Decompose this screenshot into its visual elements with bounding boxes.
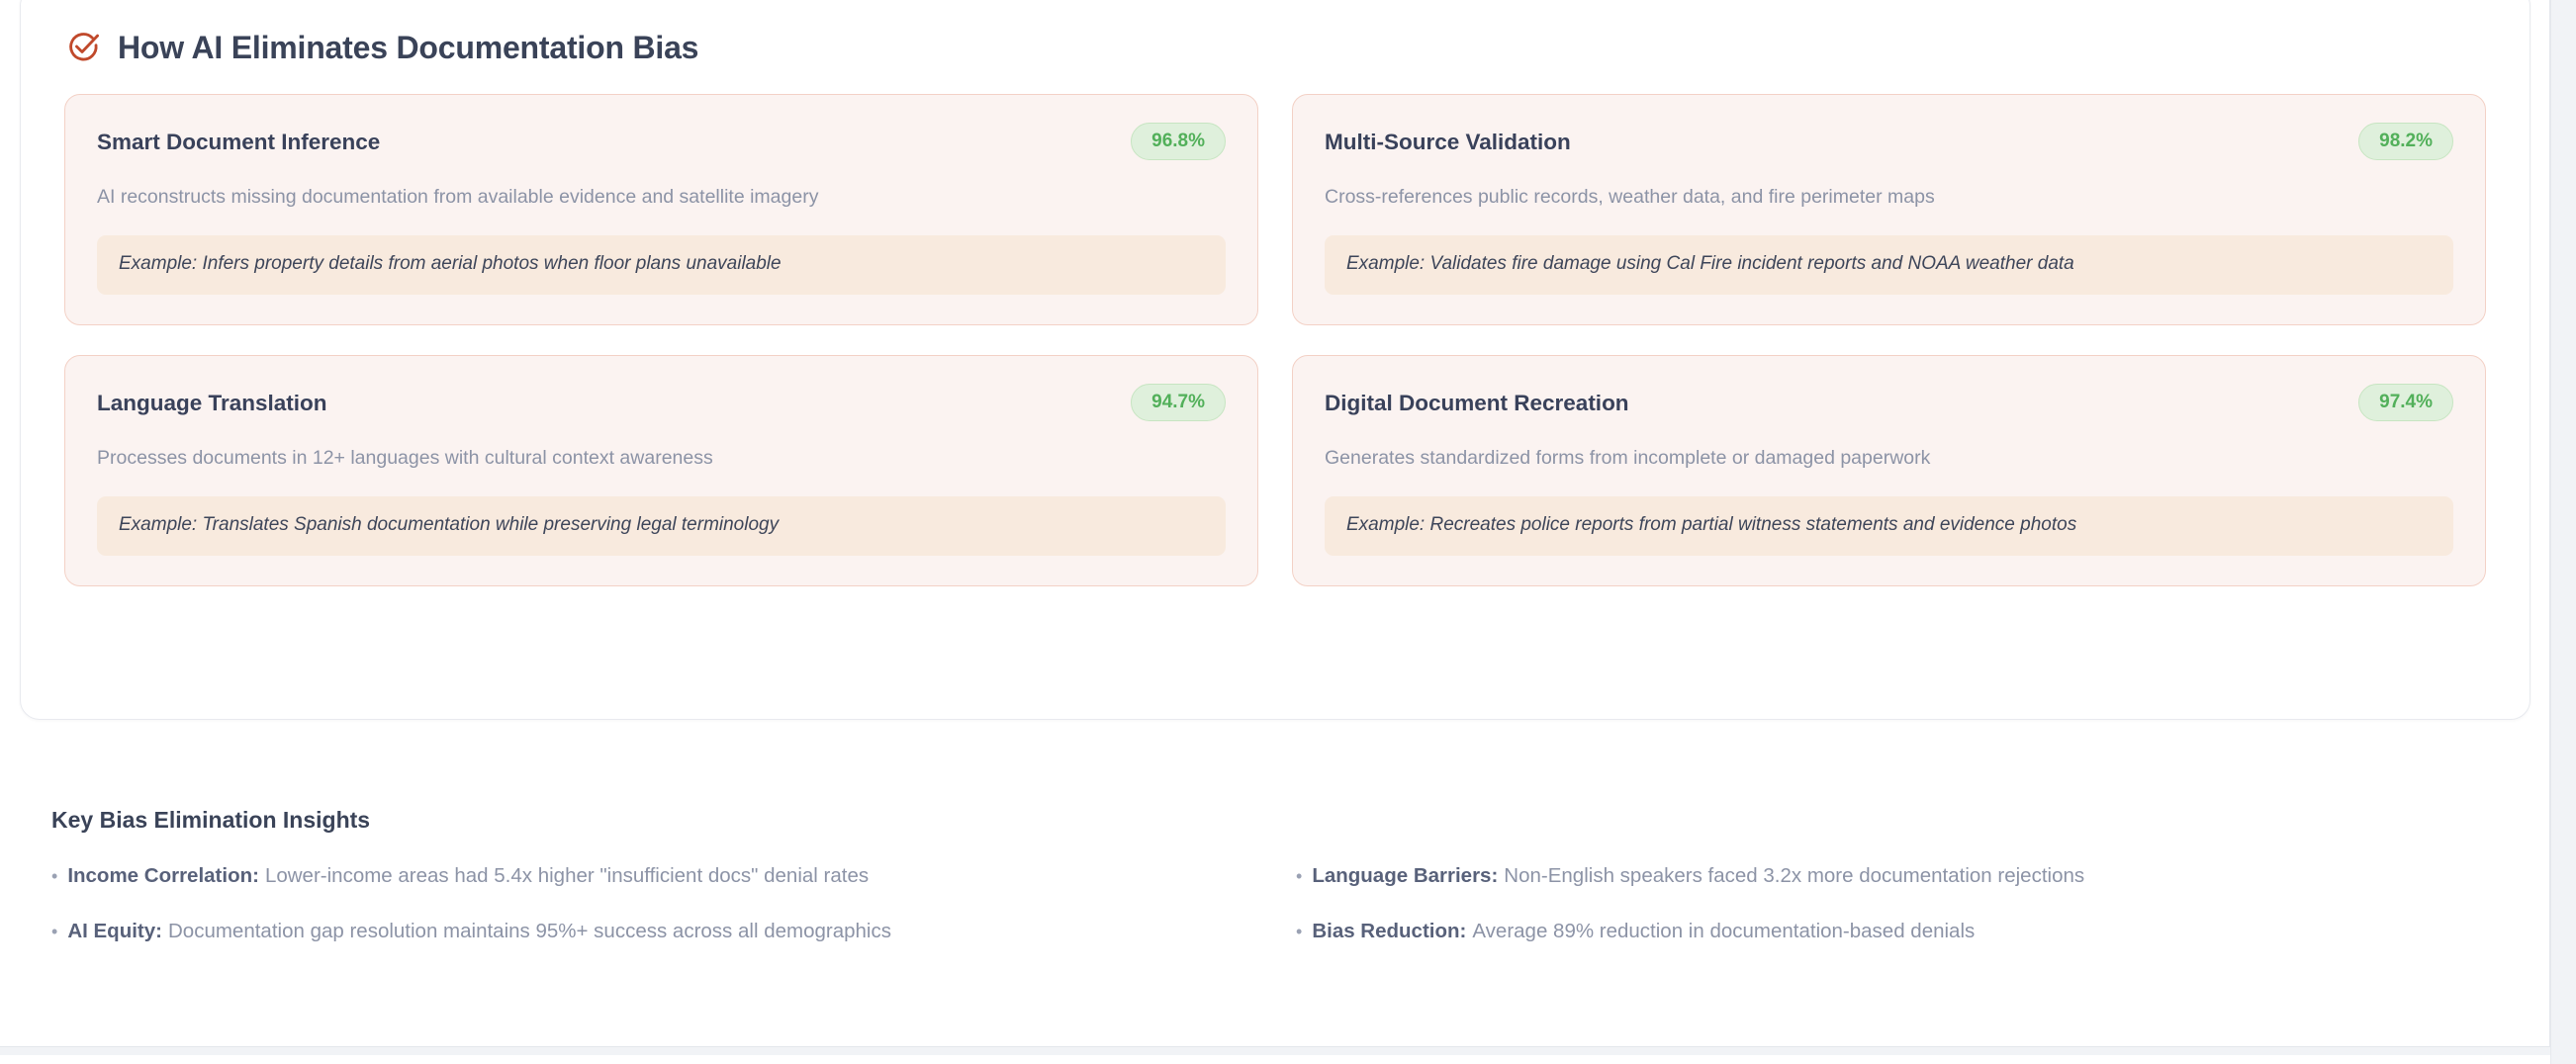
card-title: Language Translation [97,390,327,416]
circle-check-icon [66,31,100,64]
page-scrollbar-gutter[interactable] [2550,0,2576,1064]
card-example: Example: Infers property details from ae… [97,235,1226,295]
card-header: Smart Document Inference 96.8% [97,123,1226,160]
bullet-icon: • [51,867,57,885]
feature-card-multi-source-validation[interactable]: Multi-Source Validation 98.2% Cross-refe… [1292,94,2486,325]
insight-text: Non-English speakers faced 3.2x more doc… [1504,864,2084,887]
bullet-icon: • [1296,867,1302,885]
card-title: Digital Document Recreation [1325,390,1629,416]
accuracy-badge: 97.4% [2358,384,2453,421]
insight-item-bias-reduction: • Bias Reduction:Average 89% reduction i… [1296,919,2501,945]
card-description: Cross-references public records, weather… [1325,184,2453,210]
card-title: Multi-Source Validation [1325,129,1571,155]
accuracy-badge: 96.8% [1131,123,1226,160]
card-example: Example: Recreates police reports from p… [1325,496,2453,556]
insight-item-language-barriers: • Language Barriers:Non-English speakers… [1296,863,2501,890]
page-title: How AI Eliminates Documentation Bias [118,32,698,63]
key-insights-section: Key Bias Elimination Insights • Income C… [51,807,2501,944]
content-column: How AI Eliminates Documentation Bias Sma… [0,0,2550,1055]
card-header: Digital Document Recreation 97.4% [1325,384,2453,421]
insight-label: Bias Reduction: [1312,920,1466,942]
accuracy-badge: 94.7% [1131,384,1226,421]
insight-label: AI Equity: [67,920,162,942]
feature-card-grid: Smart Document Inference 96.8% AI recons… [56,82,2494,586]
card-example: Example: Validates fire damage using Cal… [1325,235,2453,295]
insight-item-income-correlation: • Income Correlation:Lower-income areas … [51,863,1256,890]
bullet-icon: • [1296,923,1302,940]
feature-card-language-translation[interactable]: Language Translation 94.7% Processes doc… [64,355,1258,586]
insights-title: Key Bias Elimination Insights [51,807,2501,834]
card-title: Smart Document Inference [97,129,380,155]
insight-item-ai-equity: • AI Equity:Documentation gap resolution… [51,919,1256,945]
documentation-bias-panel: How AI Eliminates Documentation Bias Sma… [20,0,2530,720]
card-header: Multi-Source Validation 98.2% [1325,123,2453,160]
card-example: Example: Translates Spanish documentatio… [97,496,1226,556]
card-header: Language Translation 94.7% [97,384,1226,421]
insight-text: Documentation gap resolution maintains 9… [168,920,891,942]
insight-label: Language Barriers: [1312,864,1498,887]
insights-grid: • Income Correlation:Lower-income areas … [51,863,2501,944]
bottom-divider [0,1046,2550,1055]
accuracy-badge: 98.2% [2358,123,2453,160]
card-description: AI reconstructs missing documentation fr… [97,184,1226,210]
insight-label: Income Correlation: [67,864,259,887]
insight-text: Average 89% reduction in documentation-b… [1472,920,1975,942]
card-description: Generates standardized forms from incomp… [1325,445,2453,471]
insight-text: Lower-income areas had 5.4x higher "insu… [265,864,869,887]
bullet-icon: • [51,923,57,940]
card-description: Processes documents in 12+ languages wit… [97,445,1226,471]
app-screen: How AI Eliminates Documentation Bias Sma… [0,0,2576,1064]
feature-card-smart-document-inference[interactable]: Smart Document Inference 96.8% AI recons… [64,94,1258,325]
feature-card-digital-document-recreation[interactable]: Digital Document Recreation 97.4% Genera… [1292,355,2486,586]
panel-header: How AI Eliminates Documentation Bias [56,0,2494,82]
